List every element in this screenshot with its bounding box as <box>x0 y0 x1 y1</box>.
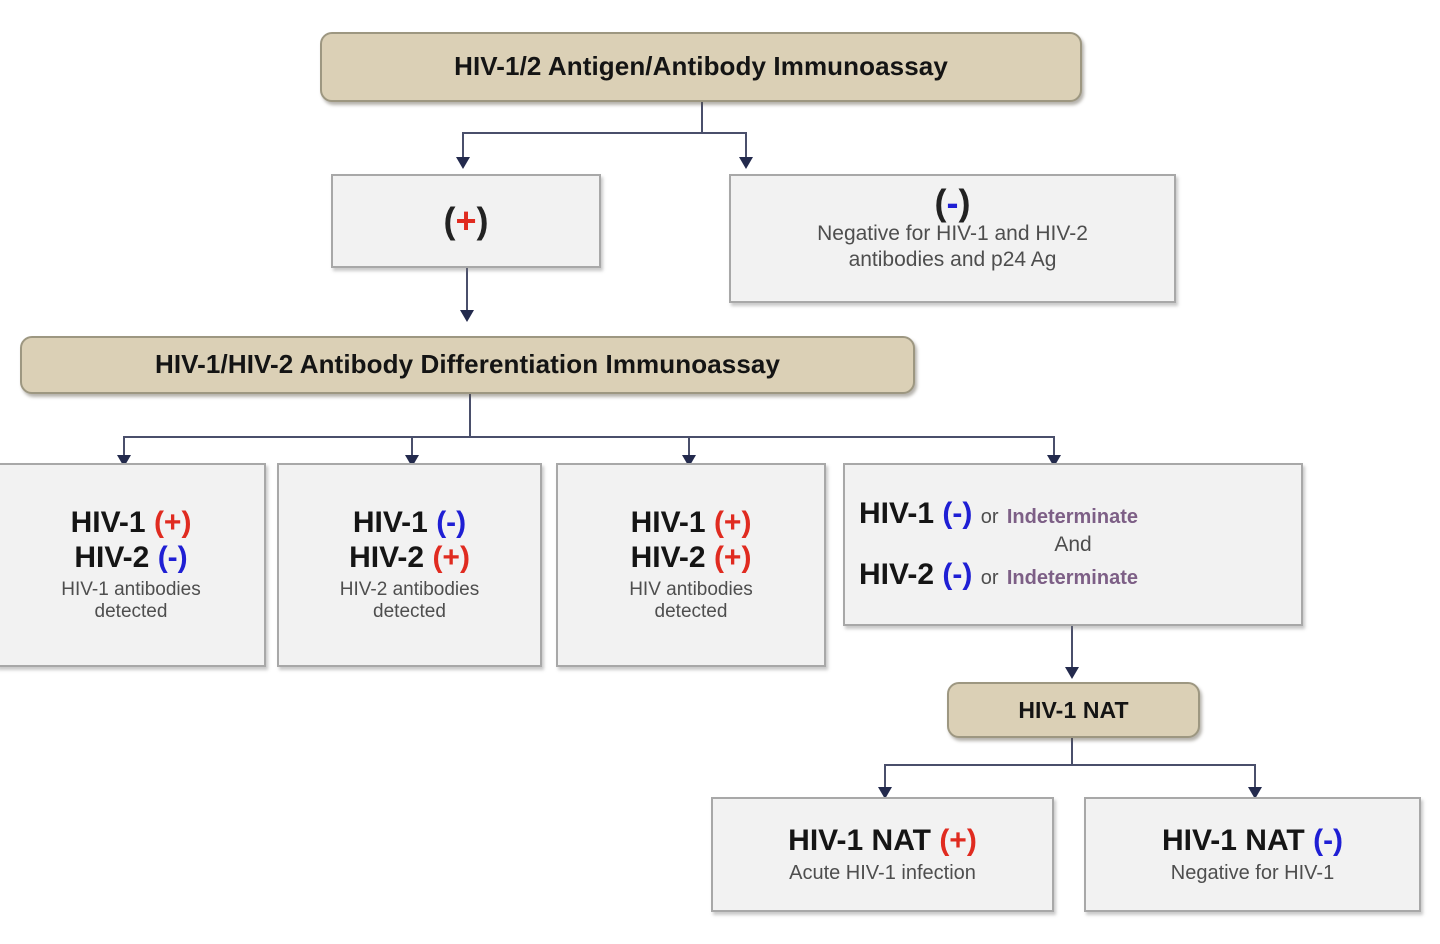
node-screen-positive[interactable]: (+) <box>331 174 601 268</box>
nat-negative-sign: (-) <box>1313 824 1343 857</box>
connector-screening-stem <box>701 101 703 133</box>
node-screen-negative[interactable]: (-) Negative for HIV-1 and HIV-2 antibod… <box>729 174 1176 303</box>
result-b-line-2: HIV-2 (+) <box>349 541 470 575</box>
result-b-hiv1-sign: (-) <box>436 506 466 539</box>
result-c-sub-line-1: HIV antibodies <box>629 579 753 601</box>
screening-assay-label: HIV-1/2 Antigen/Antibody Immunoassay <box>454 53 948 80</box>
result-b-hiv2-sign: (+) <box>432 541 470 574</box>
result-a-hiv1-label: HIV-1 <box>71 506 146 539</box>
screen-negative-sub-line-2: antibodies and p24 Ag <box>849 248 1057 273</box>
result-d-hiv2-sign: (-) <box>942 558 972 591</box>
connector-differentiation-stem <box>469 393 471 437</box>
connector-nat-stem <box>1071 737 1073 765</box>
nat-positive-sub-line-1: Acute HIV-1 infection <box>789 862 976 886</box>
node-nat-assay[interactable]: HIV-1 NAT <box>947 682 1200 738</box>
result-c-line-2: HIV-2 (+) <box>631 541 752 575</box>
result-d-hiv2-indeterminate: Indeterminate <box>1007 567 1138 589</box>
nat-positive-label: HIV-1 NAT <box>788 824 931 857</box>
connector-screening-bar <box>462 132 747 134</box>
nat-negative-line-1: HIV-1 NAT (-) <box>1162 824 1343 858</box>
result-b-hiv2-label: HIV-2 <box>349 541 424 574</box>
arrowhead-to-nat <box>1065 667 1079 679</box>
node-nat-negative[interactable]: HIV-1 NAT (-) Negative for HIV-1 <box>1084 797 1421 912</box>
plus-sign: + <box>455 200 476 241</box>
paren-close: ) <box>477 200 489 241</box>
result-a-hiv2-label: HIV-2 <box>74 541 149 574</box>
result-c-line-1: HIV-1 (+) <box>631 506 752 540</box>
result-d-line-2: HIV-2 (-) or Indeterminate <box>859 558 1138 592</box>
connector-to-positive <box>462 132 464 160</box>
result-d-hiv1-label: HIV-1 <box>859 497 934 530</box>
result-d-and-word: And <box>1054 531 1091 558</box>
node-nat-positive[interactable]: HIV-1 NAT (+) Acute HIV-1 infection <box>711 797 1054 912</box>
arrowhead-to-negative <box>739 157 753 169</box>
paren-close: ) <box>959 182 971 223</box>
differentiation-assay-label: HIV-1/HIV-2 Antibody Differentiation Imm… <box>155 351 780 378</box>
result-d-hiv1-or: or <box>981 506 999 528</box>
result-d-hiv1-sign: (-) <box>942 497 972 530</box>
screen-negative-sub-line-1: Negative for HIV-1 and HIV-2 <box>817 222 1088 247</box>
result-d-hiv1-indeterminate: Indeterminate <box>1007 506 1138 528</box>
node-screening-assay[interactable]: HIV-1/2 Antigen/Antibody Immunoassay <box>320 32 1082 102</box>
result-a-hiv2-sign: (-) <box>158 541 188 574</box>
result-c-hiv2-sign: (+) <box>714 541 752 574</box>
result-c-hiv1-label: HIV-1 <box>631 506 706 539</box>
result-a-line-2: HIV-2 (-) <box>74 541 187 575</box>
nat-negative-label: HIV-1 NAT <box>1162 824 1305 857</box>
result-c-sub-line-2: detected <box>655 601 728 623</box>
result-d-line-1: HIV-1 (-) or Indeterminate <box>859 497 1138 531</box>
paren-open: ( <box>935 182 947 223</box>
result-c-hiv1-sign: (+) <box>714 506 752 539</box>
result-c-hiv2-label: HIV-2 <box>631 541 706 574</box>
node-result-hiv1-neg-hiv2-pos[interactable]: HIV-1 (-) HIV-2 (+) HIV-2 antibodies det… <box>277 463 542 667</box>
result-b-sub-line-2: detected <box>373 601 446 623</box>
paren-open: ( <box>443 200 455 241</box>
connector-nat-bar <box>884 764 1256 766</box>
nat-assay-label: HIV-1 NAT <box>1018 698 1128 722</box>
node-result-indeterminate[interactable]: HIV-1 (-) or Indeterminate And HIV-2 (-)… <box>843 463 1303 626</box>
nat-positive-line-1: HIV-1 NAT (+) <box>788 824 977 858</box>
result-b-line-1: HIV-1 (-) <box>353 506 466 540</box>
result-a-sub-line-1: HIV-1 antibodies <box>61 579 200 601</box>
connector-differentiation-bar <box>123 436 1055 438</box>
minus-sign: - <box>947 182 959 223</box>
result-b-hiv1-label: HIV-1 <box>353 506 428 539</box>
connector-resultd-to-nat <box>1071 626 1073 670</box>
result-a-sub-line-2: detected <box>95 601 168 623</box>
connector-positive-to-differentiation <box>466 268 468 313</box>
screen-negative-sign: (-) <box>935 184 971 222</box>
connector-to-negative <box>745 132 747 160</box>
nat-positive-sign: (+) <box>939 824 977 857</box>
hiv-testing-algorithm-diagram: HIV-1/2 Antigen/Antibody Immunoassay (+)… <box>0 0 1440 944</box>
screen-positive-sign: (+) <box>443 202 488 240</box>
result-d-hiv2-or: or <box>981 567 999 589</box>
result-a-line-1: HIV-1 (+) <box>71 506 192 540</box>
arrowhead-to-positive <box>456 157 470 169</box>
node-differentiation-assay[interactable]: HIV-1/HIV-2 Antibody Differentiation Imm… <box>20 336 915 394</box>
result-b-sub-line-1: HIV-2 antibodies <box>340 579 479 601</box>
result-a-hiv1-sign: (+) <box>154 506 192 539</box>
node-result-hiv1-pos-hiv2-neg[interactable]: HIV-1 (+) HIV-2 (-) HIV-1 antibodies det… <box>0 463 266 667</box>
result-d-hiv2-label: HIV-2 <box>859 558 934 591</box>
arrowhead-to-differentiation <box>460 310 474 322</box>
nat-negative-sub-line-1: Negative for HIV-1 <box>1171 862 1334 886</box>
node-result-hiv1-pos-hiv2-pos[interactable]: HIV-1 (+) HIV-2 (+) HIV antibodies detec… <box>556 463 826 667</box>
